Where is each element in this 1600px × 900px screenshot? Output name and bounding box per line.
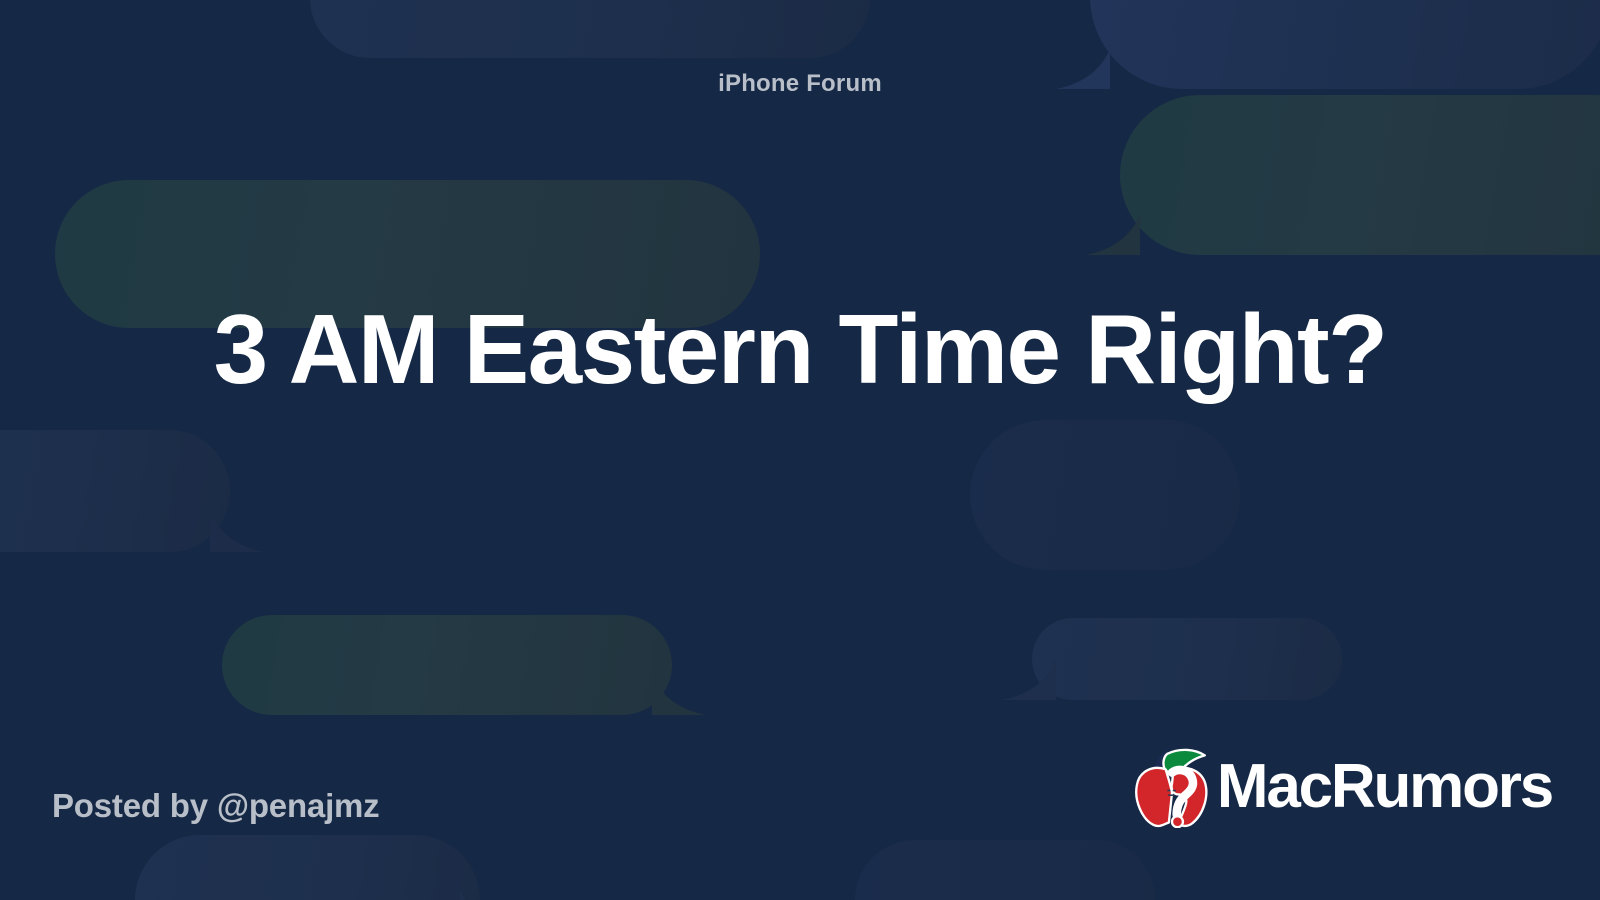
card-content: iPhone Forum 3 AM Eastern Time Right? Po… <box>0 0 1600 900</box>
macrumors-logo: MacRumors <box>1133 746 1552 828</box>
posted-by-label: Posted by @penajmz <box>52 789 379 822</box>
macrumors-apple-question-mark-icon <box>1133 746 1211 828</box>
forum-label: iPhone Forum <box>718 72 882 96</box>
brand-wordmark: MacRumors <box>1217 756 1552 818</box>
page-title: 3 AM Eastern Time Right? <box>130 292 1470 408</box>
social-share-card: iPhone Forum 3 AM Eastern Time Right? Po… <box>0 0 1600 900</box>
